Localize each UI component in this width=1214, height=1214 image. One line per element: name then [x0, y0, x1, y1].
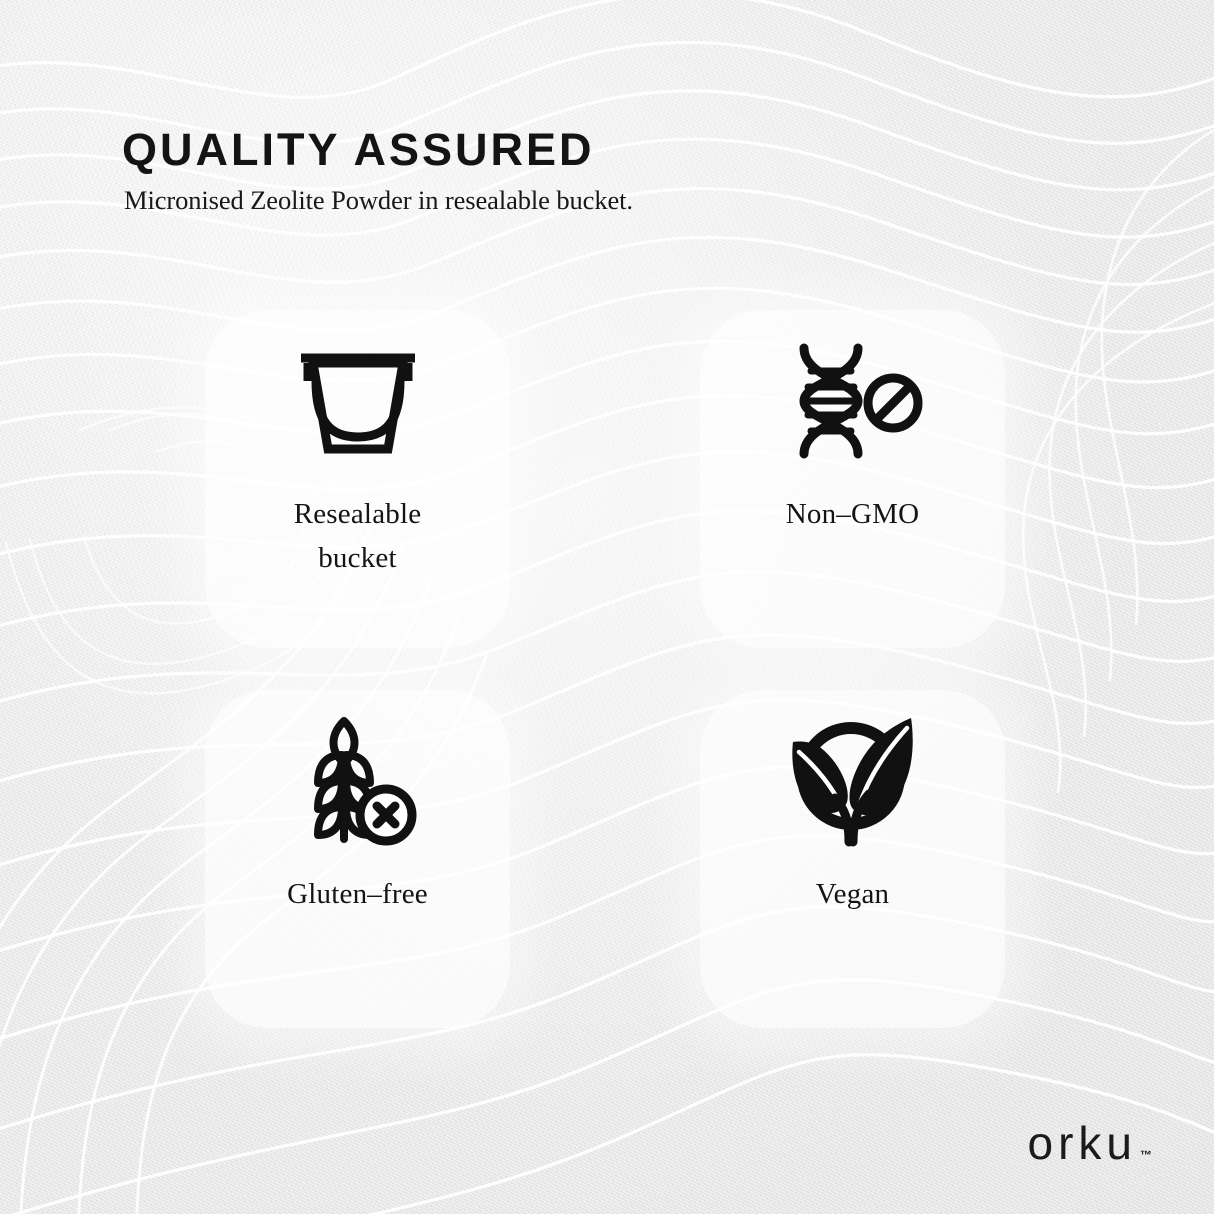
feature-card-label: Non–GMO	[770, 492, 936, 536]
feature-card-vegan: Vegan	[700, 690, 1005, 1028]
feature-card-resealable-bucket: Resealable bucket	[205, 310, 510, 648]
brand-logo: orku ™	[1028, 1120, 1152, 1166]
feature-card-grid: Resealable bucket	[205, 310, 1005, 1030]
promo-graphic: QUALITY ASSURED Micronised Zeolite Powde…	[0, 0, 1214, 1214]
feature-card-label: Resealable bucket	[278, 492, 438, 580]
header-block: QUALITY ASSURED Micronised Zeolite Powde…	[122, 126, 1022, 217]
wheat-crossed-icon	[205, 690, 510, 872]
brand-name: orku	[1028, 1120, 1137, 1166]
vegan-leaf-icon	[700, 690, 1005, 872]
dna-no-gmo-icon	[700, 310, 1005, 492]
trademark-symbol: ™	[1140, 1148, 1152, 1162]
page-subtitle: Micronised Zeolite Powder in resealable …	[124, 185, 1022, 217]
page-title: QUALITY ASSURED	[122, 126, 1022, 173]
bucket-icon	[205, 310, 510, 492]
feature-card-label: Vegan	[800, 872, 905, 916]
feature-card-label: Gluten–free	[271, 872, 444, 916]
feature-card-non-gmo: Non–GMO	[700, 310, 1005, 648]
feature-card-gluten-free: Gluten–free	[205, 690, 510, 1028]
